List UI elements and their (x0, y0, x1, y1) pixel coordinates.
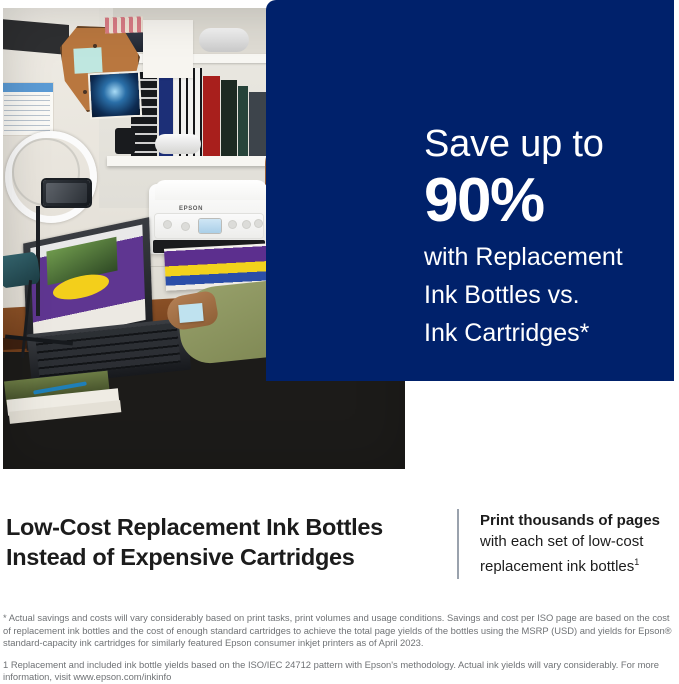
benefits-right-bold: Print thousands of pages (480, 510, 675, 531)
photo-chair (189, 408, 405, 469)
headline-sub-line-3: Ink Cartridges* (424, 318, 674, 348)
photo-smartphone-screen (46, 183, 87, 203)
printer-brand-label: EPSON (179, 206, 203, 212)
photo-schedule-header (3, 83, 53, 92)
photo-blackboard (3, 19, 69, 55)
photo-schedule-lines (4, 95, 50, 132)
photo-schedule-sheet (3, 83, 53, 135)
photo-wall-paper (143, 20, 193, 78)
benefits-left-heading: Low-Cost Replacement Ink Bottles Instead… (6, 512, 436, 572)
headline-percent: 90% (424, 168, 674, 234)
photo-controller-top (199, 28, 249, 52)
hero-headline-block: Save up to 90% with Replacement Ink Bott… (424, 122, 674, 348)
photo-printer-lid (155, 180, 267, 200)
photo-printer-button-1 (164, 221, 171, 228)
photo-microphone (3, 251, 41, 288)
footnotes-section: * Actual savings and costs will vary con… (3, 612, 675, 684)
photo-book-dark (221, 80, 237, 156)
benefits-right-line-3: replacement ink bottles1 (480, 552, 675, 577)
hero-banner: EPSON (0, 0, 679, 470)
headline-save-up-to: Save up to (424, 122, 674, 166)
photo-gamepad (155, 134, 201, 154)
benefits-right-block: Print thousands of pages with each set o… (480, 510, 675, 577)
benefits-section: Low-Cost Replacement Ink Bottles Instead… (0, 496, 679, 596)
benefits-heading-line-2: Instead of Expensive Cartridges (6, 542, 436, 572)
photo-printer-button-5 (255, 220, 262, 227)
photo-sticky-note (178, 303, 203, 323)
photo-printer-screen (199, 219, 221, 233)
photo-printer-button-3 (229, 221, 236, 228)
benefits-footnote-marker: 1 (634, 557, 639, 567)
vertical-divider (457, 509, 459, 579)
photo-printer-button-2 (182, 223, 189, 230)
photo-book-red (203, 76, 220, 156)
headline-sub-line-2: Ink Bottles vs. (424, 280, 674, 310)
photo-printer-button-4 (243, 221, 250, 228)
photo-pushpin-2 (83, 90, 87, 94)
footnote-one: 1 Replacement and included ink bottle yi… (3, 659, 675, 684)
photo-pushpin-1 (93, 44, 97, 48)
headline-sub-line-1: with Replacement (424, 242, 674, 272)
footnote-asterisk: * Actual savings and costs will vary con… (3, 612, 675, 650)
benefits-right-line-2: with each set of low-cost (480, 531, 675, 552)
photo-speaker (115, 128, 135, 154)
photo-pinned-card (105, 16, 144, 33)
benefits-heading-line-1: Low-Cost Replacement Ink Bottles (6, 512, 436, 542)
photo-concert-print (90, 73, 140, 117)
photo-book-green (238, 86, 248, 156)
benefits-right-line-3-text: replacement ink bottles (480, 558, 634, 575)
